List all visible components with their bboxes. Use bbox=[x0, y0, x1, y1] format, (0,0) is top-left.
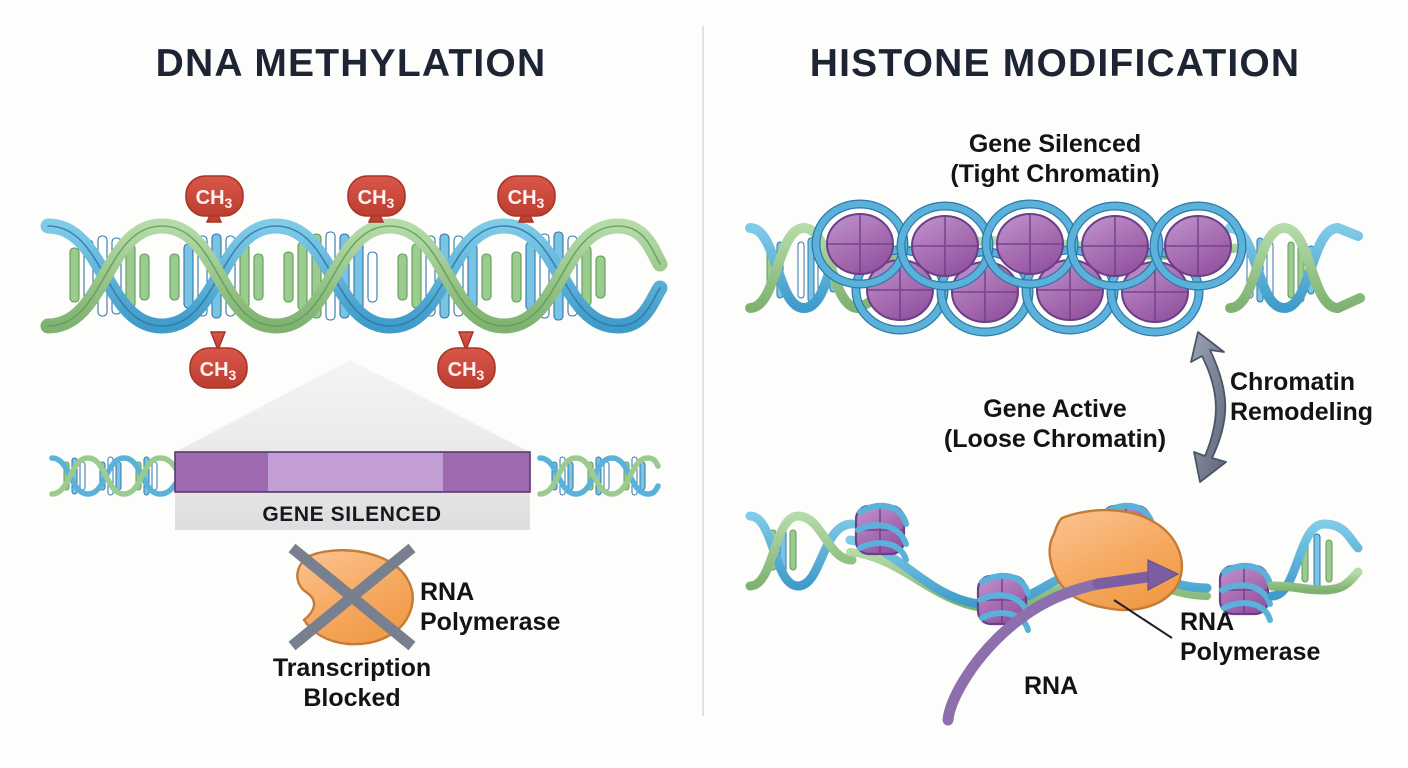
panel-dna-methylation: DNA METHYLATION bbox=[0, 0, 702, 768]
dna-methylation-illustration: CH3 CH3 CH3 CH3 CH3 bbox=[0, 0, 702, 768]
methyl-group-tag-bottom-left: CH3 bbox=[190, 332, 247, 388]
gene-bar-label: GENE SILENCED bbox=[262, 503, 441, 526]
nucleosome-loose-1 bbox=[856, 506, 906, 560]
methyl-group-tag-top-center: CH3 bbox=[348, 176, 405, 222]
dna-helix-loose-right bbox=[1272, 524, 1358, 596]
dna-double-helix-main bbox=[48, 226, 660, 326]
rna-polymerase-label-left: RNA Polymerase bbox=[420, 578, 600, 637]
panel-histone-modification: HISTONE MODIFICATION bbox=[702, 0, 1408, 768]
methyl-group-tag-bottom-right: CH3 bbox=[438, 332, 495, 388]
gene-silenced-label: Gene Silenced (Tight Chromatin) bbox=[855, 130, 1255, 189]
dna-helix-loose-left bbox=[750, 516, 852, 586]
gene-bar bbox=[175, 452, 530, 492]
dna-strand-left-small bbox=[52, 457, 178, 495]
figure-canvas: DNA METHYLATION bbox=[0, 0, 1408, 768]
transcription-blocked-label: Transcription Blocked bbox=[252, 654, 452, 713]
tight-chromatin-structure bbox=[750, 204, 1360, 332]
rna-polymerase-label-right: RNA Polymerase bbox=[1180, 608, 1370, 667]
methyl-group-tag-top-left: CH3 bbox=[186, 176, 243, 222]
dna-strand-right-small bbox=[540, 457, 658, 495]
methyl-group-tag-top-right: CH3 bbox=[498, 176, 555, 222]
gene-active-label: Gene Active (Loose Chromatin) bbox=[855, 395, 1255, 454]
rna-label: RNA bbox=[1024, 672, 1114, 702]
chromatin-remodeling-label: Chromatin Remodeling bbox=[1230, 368, 1408, 427]
dna-helix-tight-right bbox=[1230, 228, 1360, 308]
